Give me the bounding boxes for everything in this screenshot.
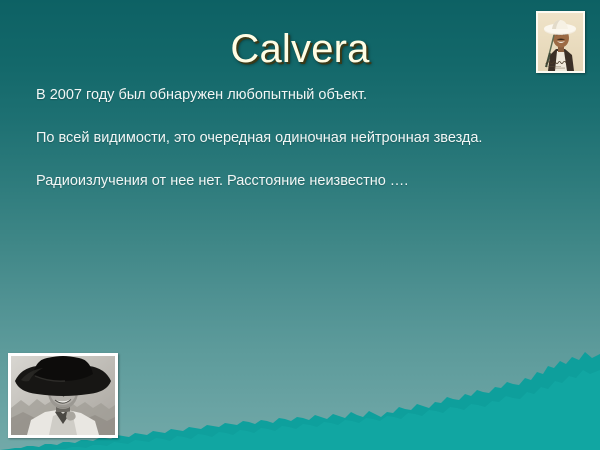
body-line-3: Радиоизлучения от нее нет. Расстояние не… — [36, 172, 576, 190]
calvera-bw-photo-image — [8, 353, 118, 438]
page-title: Calvera — [0, 26, 600, 72]
slide-calvera: Calvera В 2007 году был обнаружен любопы… — [0, 0, 600, 450]
body-line-2: По всей видимости, это очередная одиночн… — [36, 129, 576, 147]
slide-body: В 2007 году был обнаружен любопытный объ… — [36, 86, 576, 190]
body-line-1: В 2007 году был обнаружен любопытный объ… — [36, 86, 576, 104]
calvera-autographed-portrait-image — [536, 11, 585, 73]
portrait-artwork — [538, 13, 583, 71]
bw-photo-artwork — [11, 356, 115, 435]
